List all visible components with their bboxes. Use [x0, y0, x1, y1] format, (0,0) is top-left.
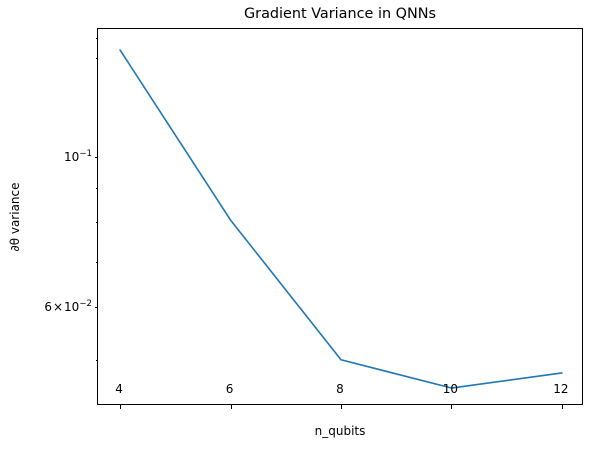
- plot-area: 10−16×10−2: [97, 28, 583, 405]
- matplotlib-figure: Gradient Variance in QNNs ∂θ variance 10…: [0, 0, 603, 455]
- y-tick-label: 10−1: [64, 150, 92, 164]
- x-tick-mark: [562, 405, 563, 409]
- x-tick-label: 4: [89, 382, 149, 396]
- y-axis-label-container: ∂θ variance: [6, 28, 24, 405]
- chart-title: Gradient Variance in QNNs: [0, 6, 603, 23]
- y-tick-label: 6×10−2: [44, 300, 92, 314]
- y-minor-tick-mark: [96, 262, 98, 263]
- x-axis-label: n_qubits: [97, 424, 583, 438]
- y-minor-tick-mark: [96, 38, 98, 39]
- y-minor-tick-mark: [96, 222, 98, 223]
- y-minor-tick-mark: [96, 58, 98, 59]
- y-axis-label: ∂θ variance: [8, 182, 22, 251]
- line-gradient-variance: [120, 50, 562, 388]
- x-tick-mark: [341, 405, 342, 409]
- x-tick-label: 10: [420, 382, 480, 396]
- x-tick-mark: [451, 405, 452, 409]
- y-tick-mark: [95, 157, 99, 158]
- data-line-series: [98, 29, 584, 406]
- y-tick-mark: [95, 307, 99, 308]
- y-minor-tick-mark: [96, 188, 98, 189]
- y-minor-tick-mark: [96, 360, 98, 361]
- x-tick-label: 12: [531, 382, 591, 396]
- x-tick-mark: [120, 405, 121, 409]
- x-tick-label: 8: [310, 382, 370, 396]
- x-tick-mark: [231, 405, 232, 409]
- x-tick-label: 6: [200, 382, 260, 396]
